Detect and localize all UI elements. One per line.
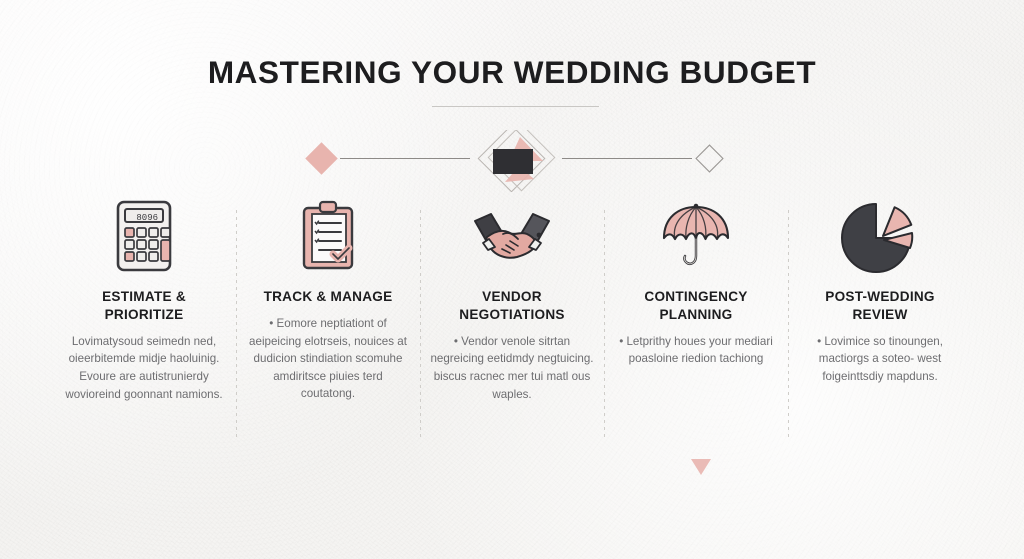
svg-text:8096: 8096: [136, 213, 158, 223]
column-heading: TRACK & MANAGE: [264, 288, 393, 306]
column-list: 8096 ESTIMATE & PRIORITIZE Lovimatysoud: [52, 198, 972, 448]
column-body: Lovimatysoud seimedn ned, oieerbitemde m…: [62, 333, 226, 403]
column-heading: ESTIMATE & PRIORITIZE: [102, 288, 186, 324]
column-track-manage: TRACK & MANAGE • Eomore neptiationt of a…: [236, 198, 420, 403]
outline-diamond-right: [696, 145, 723, 172]
column-heading: CONTINGENCY PLANNING: [644, 288, 747, 324]
column-body: • Vendor venole sitrtan negreicing eetid…: [430, 333, 594, 403]
infographic-poster: MASTERING YOUR WEDDING BUDGET: [0, 0, 1024, 559]
umbrella-icon: [658, 198, 734, 274]
down-triangle-ornament: [690, 458, 712, 476]
column-heading: POST-WEDDING REVIEW: [825, 288, 935, 324]
center-ornament: [478, 130, 554, 192]
decorative-divider: [0, 130, 1024, 192]
title-underline-rule: [432, 106, 599, 107]
center-dark-block: [493, 149, 533, 174]
page-title: MASTERING YOUR WEDDING BUDGET: [0, 54, 1024, 91]
column-post-wedding-review: POST-WEDDING REVIEW • Lovimice so tinoun…: [788, 198, 972, 386]
column-estimate-prioritize: 8096 ESTIMATE & PRIORITIZE Lovimatysoud: [52, 198, 236, 403]
pie-chart-icon: [840, 198, 920, 274]
column-body: • Eomore neptiationt of aeipeicing elotr…: [246, 315, 410, 403]
column-vendor-negotiations: VENDOR NEGOTIATIONS • Vendor venole sitr…: [420, 198, 604, 403]
filled-diamond-left: [305, 142, 338, 175]
handshake-icon: [469, 198, 555, 274]
clipboard-checklist-icon: [292, 198, 364, 274]
column-contingency-planning: CONTINGENCY PLANNING • Letprithy houes y…: [604, 198, 788, 368]
column-body: • Lovimice so tinoungen, mactiorgs a sot…: [798, 333, 962, 386]
column-heading: VENDOR NEGOTIATIONS: [430, 288, 594, 324]
column-body: • Letprithy houes your mediari poasloine…: [614, 333, 778, 368]
calculator-icon: 8096: [108, 198, 180, 274]
